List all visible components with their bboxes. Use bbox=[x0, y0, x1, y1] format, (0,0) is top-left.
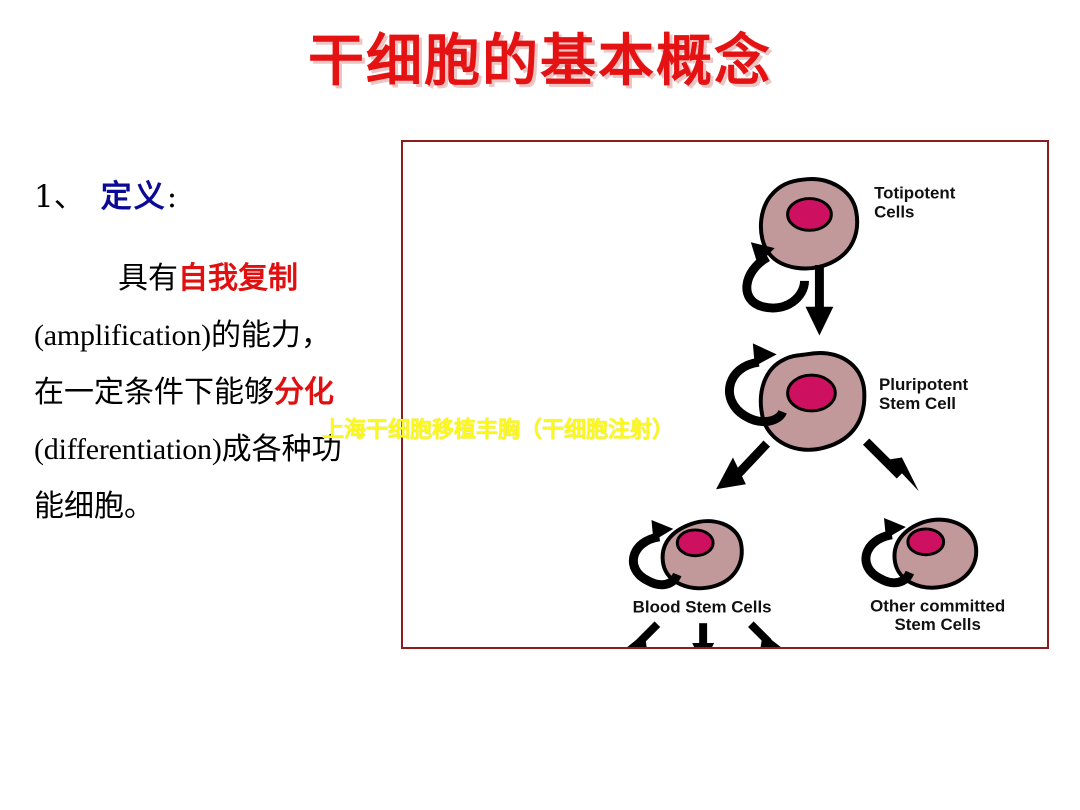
definition-text: 具有 bbox=[118, 261, 178, 296]
node-pluripotent bbox=[761, 353, 865, 450]
definition-line-2: (amplification)的能力， bbox=[34, 307, 414, 364]
totipotent-cell-nucleus bbox=[788, 199, 832, 231]
label-other-committed-line1: Other committed bbox=[870, 596, 1005, 615]
diagram-canvas: Blood Stem Cells Other committed Stem Ce… bbox=[403, 142, 1047, 647]
definition-heading-number: 1、 bbox=[34, 179, 85, 215]
edge-totipotent-to-pluripotent bbox=[806, 265, 834, 335]
other-committed-cell-nucleus bbox=[908, 529, 944, 555]
keyword-self-replication: 自我复制 bbox=[178, 261, 298, 296]
stem-cell-hierarchy-diagram: Blood Stem Cells Other committed Stem Ce… bbox=[401, 140, 1049, 649]
label-totipotent-line2: Cells bbox=[874, 202, 914, 221]
definition-line-1: 具有自我复制 bbox=[34, 250, 414, 307]
edge-blood-stem-to-white-blood bbox=[751, 624, 785, 647]
definition-text: 的能力， bbox=[211, 318, 331, 353]
label-totipotent-line1: Totipotent bbox=[874, 184, 956, 203]
definition-heading: 1、定义: bbox=[34, 172, 414, 222]
term-amplification: (amplification) bbox=[34, 319, 211, 352]
definition-text-block: 1、定义: 具有自我复制 (amplification)的能力， 在一定条件下能… bbox=[34, 172, 414, 535]
definition-line-5: 能细胞。 bbox=[34, 478, 414, 535]
edge-pluripotent-to-other-committed bbox=[866, 442, 919, 492]
edge-pluripotent-to-blood-stem bbox=[716, 444, 767, 490]
edge-blood-stem-to-red-blood bbox=[624, 624, 658, 647]
label-pluripotent-line1: Pluripotent bbox=[879, 375, 969, 394]
pluripotent-cell-nucleus bbox=[788, 375, 836, 411]
definition-text: 在一定条件下能够 bbox=[34, 375, 274, 410]
definition-heading-keyword: 定义 bbox=[101, 179, 167, 215]
blood-stem-cell-nucleus bbox=[677, 530, 713, 556]
definition-text: 能细胞。 bbox=[34, 489, 154, 524]
label-other-committed-line2: Stem Cells bbox=[894, 615, 980, 634]
node-totipotent bbox=[761, 179, 857, 268]
label-pluripotent-line2: Stem Cell bbox=[879, 394, 956, 413]
definition-heading-colon: : bbox=[167, 179, 177, 215]
page-title: 干细胞的基本概念 bbox=[0, 28, 1080, 94]
edge-blood-stem-to-platelets bbox=[692, 623, 714, 647]
keyword-differentiation: 分化 bbox=[274, 375, 334, 410]
watermark-text: 上海干细胞移植丰胸（干细胞注射） bbox=[322, 418, 674, 444]
label-blood-stem-cells: Blood Stem Cells bbox=[633, 597, 772, 616]
term-differentiation: (differentiation) bbox=[34, 433, 222, 466]
definition-line-3: 在一定条件下能够分化 bbox=[34, 364, 414, 421]
